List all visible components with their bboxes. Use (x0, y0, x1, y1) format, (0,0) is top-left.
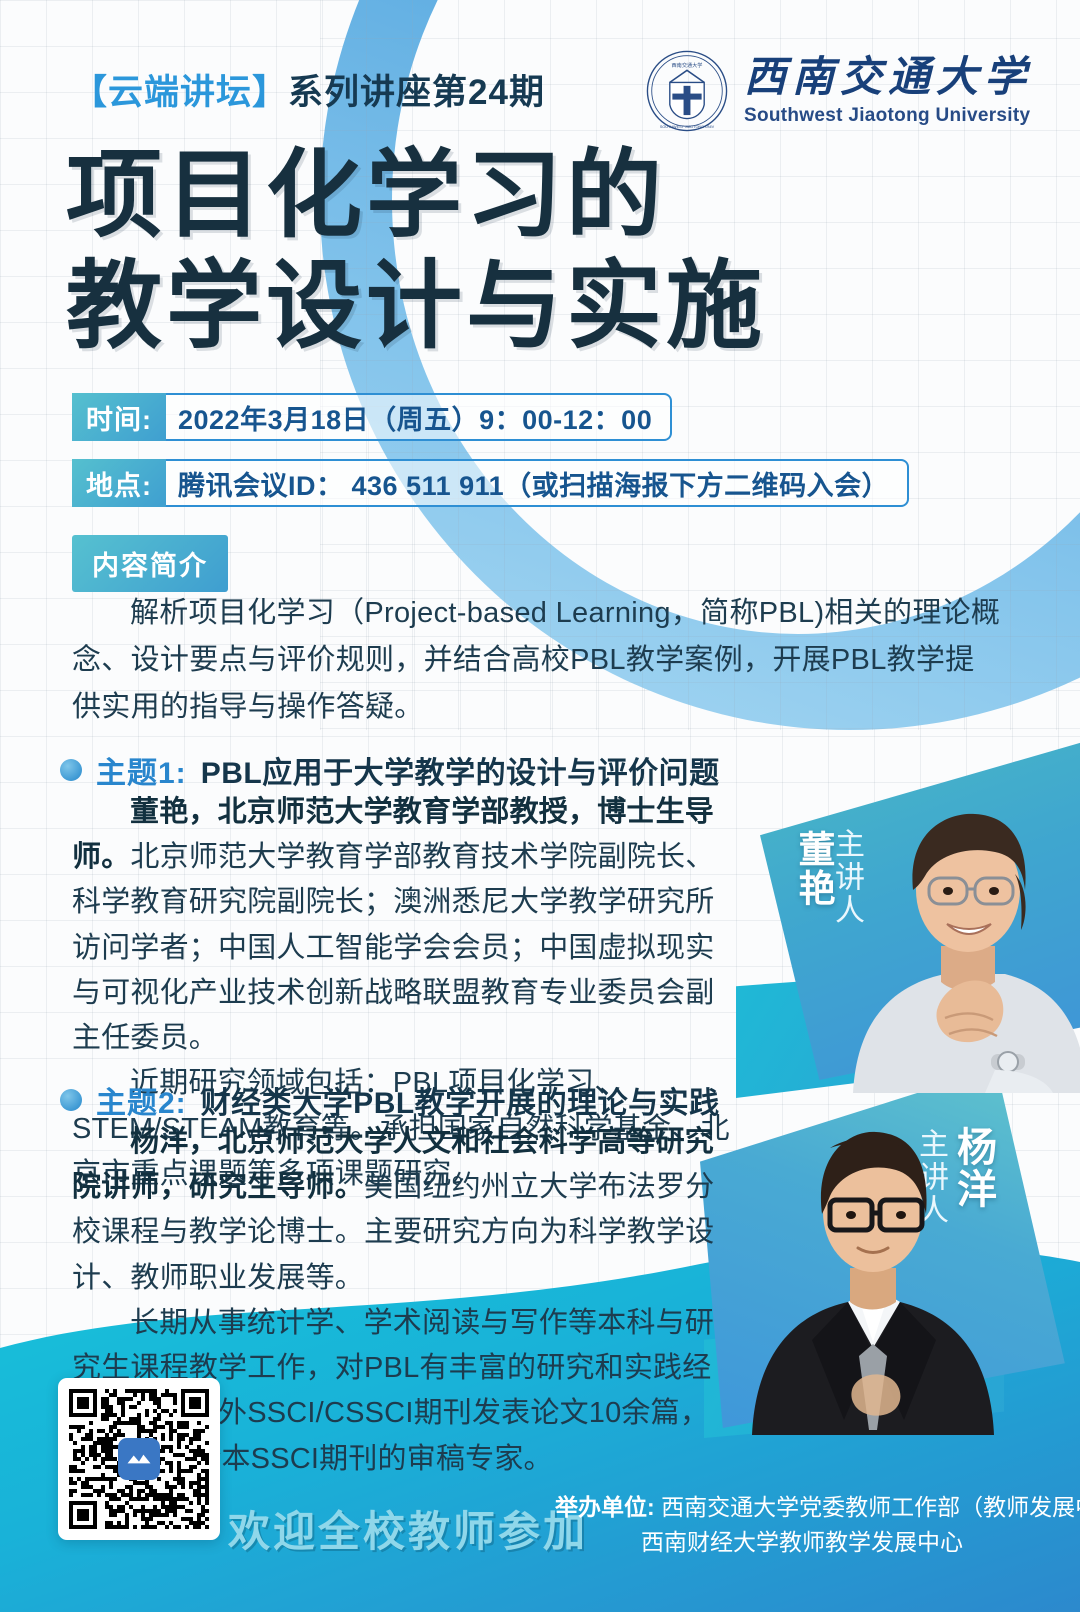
intro-paragraph: 解析项目化学习（Project-based Learning，简称PBL)相关的… (72, 590, 1002, 731)
tencent-meeting-logo-icon (118, 1438, 160, 1480)
title-line-2: 教学设计与实施 (66, 251, 766, 362)
university-name-cn: 西南交通大学 (744, 57, 1032, 99)
topic-2-heading: 主题2: 财经类大学PBL教学开展的理论与实践 (60, 1078, 720, 1122)
svg-text:西南交通大学: 西南交通大学 (672, 61, 703, 69)
topic-2-number: 主题2: (96, 1078, 187, 1122)
series-kicker: 【云端讲坛】系列讲座第24期 (72, 64, 545, 115)
topic-2-title: 财经类大学PBL教学开展的理论与实践 (201, 1078, 720, 1122)
intro-chip: 内容简介 (72, 535, 228, 592)
time-label: 时间: (72, 393, 166, 441)
title-line-1: 项目化学习的 (66, 140, 766, 251)
speaker-1-photo (845, 778, 1080, 1093)
speaker-2-photo (740, 1090, 1005, 1435)
poster-title: 项目化学习的 教学设计与实施 (66, 140, 766, 363)
organizers-block: 举办单位: 西南交通大学党委教师工作部（教师发展中心） 西南财经大学教师教学发展… (555, 1490, 1080, 1559)
topic-1-number: 主题1: (96, 748, 187, 792)
time-info-bar: 时间: 2022年3月18日（周五）9：00-12：00 (72, 393, 672, 441)
topic-1-title: PBL应用于大学教学的设计与评价问题 (201, 748, 720, 792)
topic-1-bio-p1: 董艳，北京师范大学教育学部教授，博士生导师。北京师范大学教育学部教育技术学院副院… (72, 790, 732, 1061)
place-info-bar: 地点: 腾讯会议ID： 436 511 911（或扫描海报下方二维码入会） (72, 459, 909, 507)
qr-code-icon[interactable] (58, 1378, 220, 1540)
university-name-en: Southwest Jiaotong University (744, 106, 1032, 125)
kicker-rest-text: 系列讲座第24期 (288, 73, 545, 112)
organizer-line-2: 西南财经大学教师教学发展中心 (555, 1525, 1080, 1560)
kicker-brace-text: 【云端讲坛】 (72, 73, 288, 112)
place-value: 腾讯会议ID： 436 511 911（或扫描海报下方二维码入会） (166, 459, 909, 507)
place-label: 地点: (72, 459, 166, 507)
topic-2-bio-p1: 杨洋，北京师范大学人文和社会科学高等研究院讲师，研究生导师。美国纽约州立大学布法… (72, 1120, 737, 1301)
bullet-circle-icon (60, 759, 82, 781)
time-value: 2022年3月18日（周五）9：00-12：00 (166, 393, 672, 441)
bullet-circle-icon (60, 1089, 82, 1111)
organizer-label: 举办单位: (555, 1494, 655, 1520)
poster-root: 【云端讲坛】系列讲座第24期 西南交通大学 SOUTHWEST JIAOTONG… (0, 0, 1080, 1612)
university-logo: 西南交通大学 SOUTHWEST JIAOTONG UNIV 西南交通大学 So… (644, 48, 1032, 134)
welcome-text: 欢迎全校教师参加 (228, 1498, 588, 1559)
topic-1-heading: 主题1: PBL应用于大学教学的设计与评价问题 (60, 748, 720, 792)
university-seal-icon: 西南交通大学 SOUTHWEST JIAOTONG UNIV (644, 48, 730, 134)
svg-text:SOUTHWEST JIAOTONG UNIV: SOUTHWEST JIAOTONG UNIV (660, 125, 715, 129)
topic-1-bio-p1-rest: 北京师范大学教育学部教育技术学院副院长、科学教育研究院副院长；澳洲悉尼大学教学研… (72, 841, 714, 1054)
organizer-line-1: 西南交通大学党委教师工作部（教师发展中心） (661, 1494, 1080, 1520)
